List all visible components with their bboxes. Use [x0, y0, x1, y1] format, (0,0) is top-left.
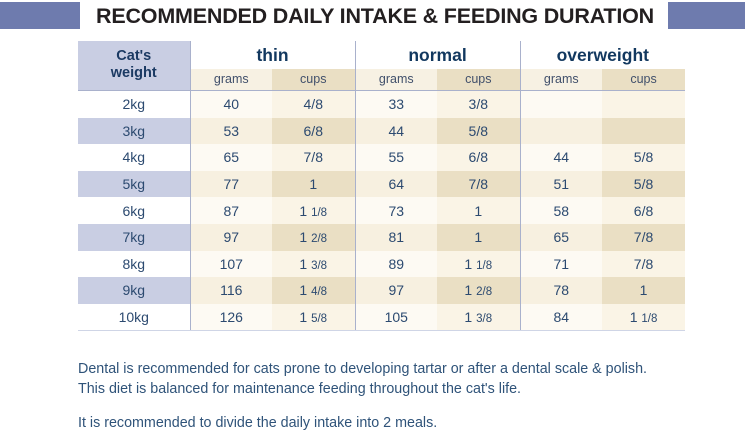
cell-overweight-grams: 78 [520, 277, 602, 304]
cell-weight: 7kg [78, 224, 190, 251]
cell-thin-grams: 126 [190, 304, 272, 331]
cell-overweight-grams: 44 [520, 144, 602, 171]
cell-overweight-grams: 58 [520, 197, 602, 224]
cell-thin-grams: 107 [190, 251, 272, 278]
cell-thin-grams: 65 [190, 144, 272, 171]
group-header-normal: normal [355, 41, 520, 69]
subheader-normal-grams: grams [355, 69, 437, 91]
cell-overweight-cups: 1 [602, 277, 685, 304]
table-row: 8kg1071 3/8891 1/8717/8 [78, 251, 685, 278]
table-body: 2kg404/8333/83kg536/8445/84kg657/8556/84… [78, 91, 685, 331]
group-header-thin: thin [190, 41, 355, 69]
note-line-3: It is recommended to divide the daily in… [78, 413, 678, 433]
subheader-thin-cups: cups [272, 69, 355, 91]
note-line-2: This diet is balanced for maintenance fe… [78, 379, 678, 399]
cell-overweight-cups [602, 91, 685, 118]
cell-overweight-cups: 7/8 [602, 224, 685, 251]
cell-normal-grams: 81 [355, 224, 437, 251]
page-header: RECOMMENDED DAILY INTAKE & FEEDING DURAT… [0, 0, 745, 33]
cell-normal-grams: 73 [355, 197, 437, 224]
cell-overweight-grams: 65 [520, 224, 602, 251]
cell-overweight-cups: 1 1/8 [602, 304, 685, 331]
cell-weight: 10kg [78, 304, 190, 331]
subheader-normal-cups: cups [437, 69, 520, 91]
group-header-row: Cat's weight thin normal overweight [78, 41, 685, 69]
cell-normal-cups: 1 2/8 [437, 277, 520, 304]
cell-overweight-cups: 7/8 [602, 251, 685, 278]
subheader-overweight-grams: grams [520, 69, 602, 91]
cell-thin-grams: 53 [190, 118, 272, 145]
cell-normal-cups: 1 [437, 197, 520, 224]
cell-weight: 6kg [78, 197, 190, 224]
group-header-overweight: overweight [520, 41, 685, 69]
cell-weight: 2kg [78, 91, 190, 118]
cell-thin-grams: 97 [190, 224, 272, 251]
cell-normal-grams: 33 [355, 91, 437, 118]
table-row: 5kg771647/8515/8 [78, 171, 685, 198]
cell-overweight-cups: 6/8 [602, 197, 685, 224]
table-head: Cat's weight thin normal overweight gram… [78, 41, 685, 91]
cell-normal-grams: 44 [355, 118, 437, 145]
cell-thin-cups: 7/8 [272, 144, 355, 171]
cell-weight: 8kg [78, 251, 190, 278]
cell-normal-cups: 6/8 [437, 144, 520, 171]
cell-normal-cups: 5/8 [437, 118, 520, 145]
page-title: RECOMMENDED DAILY INTAKE & FEEDING DURAT… [80, 4, 668, 29]
cell-thin-grams: 77 [190, 171, 272, 198]
cell-overweight-grams [520, 118, 602, 145]
cell-overweight-cups: 5/8 [602, 171, 685, 198]
cell-thin-cups: 1 4/8 [272, 277, 355, 304]
cell-thin-cups: 1 3/8 [272, 251, 355, 278]
column-header-cats-weight: Cat's weight [78, 41, 190, 91]
cell-overweight-grams [520, 91, 602, 118]
cell-normal-cups: 1 [437, 224, 520, 251]
cell-normal-cups: 7/8 [437, 171, 520, 198]
cell-overweight-grams: 84 [520, 304, 602, 331]
cell-normal-grams: 64 [355, 171, 437, 198]
table-row: 6kg871 1/8731586/8 [78, 197, 685, 224]
cell-normal-cups: 3/8 [437, 91, 520, 118]
table-row: 7kg971 2/8811657/8 [78, 224, 685, 251]
header-accent-block-right [668, 2, 745, 29]
table-row: 4kg657/8556/8445/8 [78, 144, 685, 171]
cell-thin-cups: 1 2/8 [272, 224, 355, 251]
note-line-1: Dental is recommended for cats prone to … [78, 359, 678, 379]
cats-weight-line1: Cat's [78, 48, 190, 65]
cell-overweight-grams: 51 [520, 171, 602, 198]
table-row: 3kg536/8445/8 [78, 118, 685, 145]
cell-overweight-grams: 71 [520, 251, 602, 278]
cell-thin-cups: 6/8 [272, 118, 355, 145]
cell-thin-grams: 40 [190, 91, 272, 118]
cats-weight-line2: weight [78, 65, 190, 82]
cell-weight: 3kg [78, 118, 190, 145]
subheader-overweight-cups: cups [602, 69, 685, 91]
cell-thin-cups: 1 1/8 [272, 197, 355, 224]
cell-normal-grams: 89 [355, 251, 437, 278]
cell-normal-grams: 97 [355, 277, 437, 304]
table-row: 2kg404/8333/8 [78, 91, 685, 118]
subheader-thin-grams: grams [190, 69, 272, 91]
feeding-guide-table: Cat's weight thin normal overweight gram… [78, 41, 685, 331]
cell-thin-cups: 1 5/8 [272, 304, 355, 331]
cell-weight: 5kg [78, 171, 190, 198]
cell-normal-cups: 1 3/8 [437, 304, 520, 331]
cell-thin-grams: 116 [190, 277, 272, 304]
cell-thin-cups: 1 [272, 171, 355, 198]
table-row: 9kg1161 4/8971 2/8781 [78, 277, 685, 304]
cell-weight: 4kg [78, 144, 190, 171]
cell-thin-cups: 4/8 [272, 91, 355, 118]
cell-weight: 9kg [78, 277, 190, 304]
cell-normal-cups: 1 1/8 [437, 251, 520, 278]
cell-normal-grams: 105 [355, 304, 437, 331]
cell-overweight-cups: 5/8 [602, 144, 685, 171]
cell-thin-grams: 87 [190, 197, 272, 224]
table-row: 10kg1261 5/81051 3/8841 1/8 [78, 304, 685, 331]
footer-notes: Dental is recommended for cats prone to … [78, 359, 678, 433]
header-accent-block-left [0, 2, 80, 29]
cell-normal-grams: 55 [355, 144, 437, 171]
feeding-table-container: Cat's weight thin normal overweight gram… [78, 41, 667, 331]
cell-overweight-cups [602, 118, 685, 145]
